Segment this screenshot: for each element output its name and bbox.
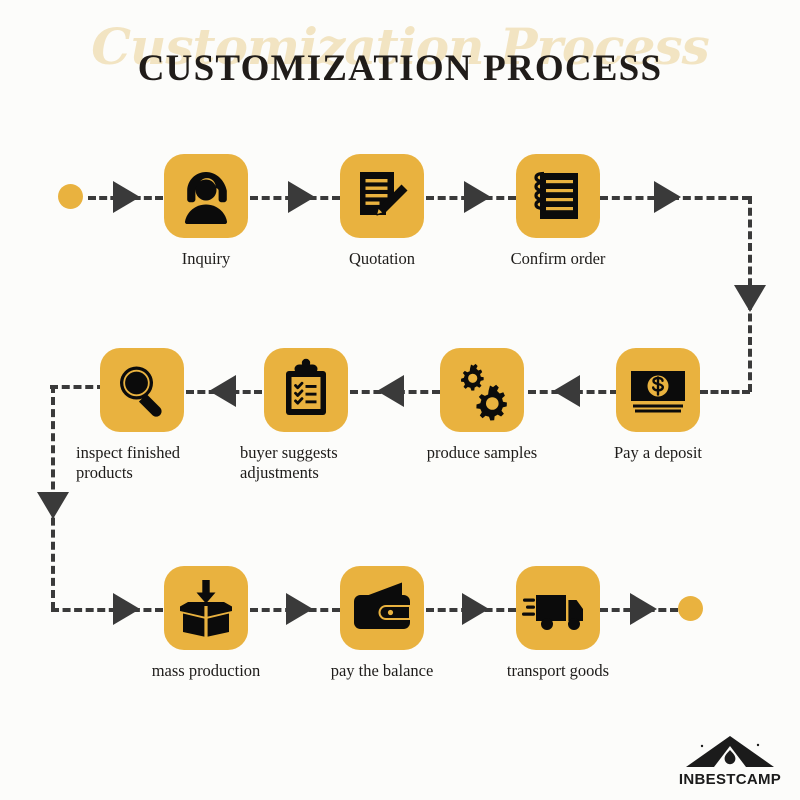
- infographic-canvas: Customization Process CUSTOMIZATION PROC…: [0, 0, 800, 800]
- step-node-transport-goods[interactable]: transport goods: [478, 566, 638, 681]
- step-label-confirm-order: Confirm order: [478, 249, 638, 269]
- step-label-inquiry: Inquiry: [126, 249, 286, 269]
- step-tile-transport-goods[interactable]: [516, 566, 600, 650]
- banknote-dollar-icon: [616, 348, 700, 432]
- document-pencil-icon: [340, 154, 424, 238]
- brand-logo: INBESTCAMP: [674, 734, 786, 788]
- wallet-icon: [340, 566, 424, 650]
- step-label-line1: buyer suggests: [240, 443, 338, 462]
- arrow-down-row2-row3: [37, 492, 69, 519]
- flow-start-dot: [58, 184, 83, 209]
- step-label-mass-production: mass production: [126, 661, 286, 681]
- delivery-truck-icon: [516, 566, 600, 650]
- step-label-buyer-suggests-adjustments: buyer suggestsadjustments: [226, 443, 386, 483]
- step-tile-quotation[interactable]: [340, 154, 424, 238]
- step-label-transport-goods: transport goods: [478, 661, 638, 681]
- step-node-confirm-order[interactable]: Confirm order: [478, 154, 638, 269]
- step-tile-inquiry[interactable]: [164, 154, 248, 238]
- arrow-right-row1-wrap: [654, 181, 681, 213]
- step-node-inspect-finished-products[interactable]: inspect finishedproducts: [62, 348, 222, 483]
- headset-support-agent-icon: [164, 154, 248, 238]
- step-tile-pay-the-balance[interactable]: [340, 566, 424, 650]
- step-label-line2: adjustments: [240, 463, 319, 482]
- magnifying-glass-icon: [100, 348, 184, 432]
- step-tile-inspect-finished-products[interactable]: [100, 348, 184, 432]
- clipboard-checklist-icon: [264, 348, 348, 432]
- brand-name: INBESTCAMP: [674, 771, 786, 788]
- step-tile-pay-deposit[interactable]: [616, 348, 700, 432]
- page-title: Customization Process CUSTOMIZATION PROC…: [0, 18, 800, 104]
- step-tile-confirm-order[interactable]: [516, 154, 600, 238]
- title-main-heading: CUSTOMIZATION PROCESS: [0, 45, 800, 93]
- step-node-inquiry[interactable]: Inquiry: [126, 154, 286, 269]
- flow-end-dot: [678, 596, 703, 621]
- step-node-quotation[interactable]: Quotation: [302, 154, 462, 269]
- step-node-pay-deposit[interactable]: Pay a deposit: [578, 348, 738, 463]
- tent-campfire-icon: [682, 734, 778, 770]
- step-label-pay-deposit: Pay a deposit: [578, 443, 738, 463]
- spiral-notepad-icon: [516, 154, 600, 238]
- step-node-buyer-suggests-adjustments[interactable]: buyer suggestsadjustments: [226, 348, 386, 483]
- step-label-pay-the-balance: pay the balance: [302, 661, 462, 681]
- step-tile-mass-production[interactable]: [164, 566, 248, 650]
- step-node-mass-production[interactable]: mass production: [126, 566, 286, 681]
- step-node-produce-samples[interactable]: produce samples: [402, 348, 562, 463]
- step-label-line1: inspect finished: [76, 443, 180, 462]
- step-label-quotation: Quotation: [302, 249, 462, 269]
- step-label-produce-samples: produce samples: [402, 443, 562, 463]
- step-label-line2: products: [76, 463, 133, 482]
- step-node-pay-the-balance[interactable]: pay the balance: [302, 566, 462, 681]
- step-label-inspect-finished-products: inspect finishedproducts: [62, 443, 222, 483]
- arrow-down-row1-row2: [734, 285, 766, 312]
- package-box-download-icon: [164, 566, 248, 650]
- gears-icon: [440, 348, 524, 432]
- step-tile-produce-samples[interactable]: [440, 348, 524, 432]
- step-tile-buyer-suggests-adjustments[interactable]: [264, 348, 348, 432]
